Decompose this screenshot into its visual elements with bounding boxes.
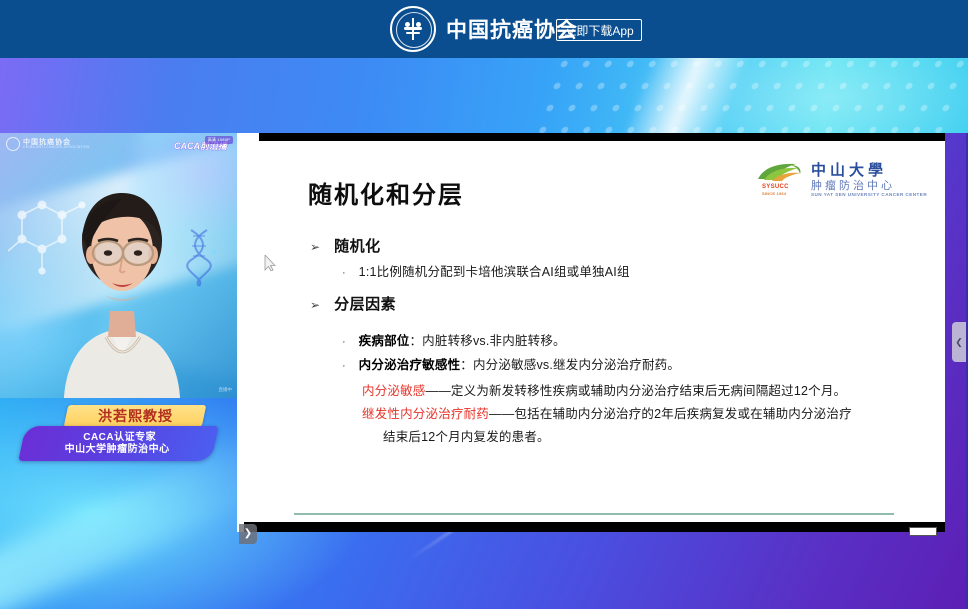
annotation-line: 继发性内分泌治疗耐药——包括在辅助内分泌治疗的2年后疾病复发或在辅助内分泌治疗 xyxy=(362,403,852,422)
video-quality-badge: 高清 1080P xyxy=(205,136,233,144)
arrow-bullet-icon: ➢ xyxy=(310,241,320,253)
speaker-video-panel[interactable]: 中国抗癌协会 CHINA ANTI-CANCER ASSOCIATION CAC… xyxy=(0,133,237,532)
top-navigation-bar: 中国抗癌协会 立即下载App xyxy=(0,0,968,58)
arrow-bullet-icon: ➢ xyxy=(310,299,320,311)
list-item-label: 疾病部位：内脏转移vs.非内脏转移。 xyxy=(359,330,566,349)
annotation-line: 结束后12个月内复发的患者。 xyxy=(383,426,550,445)
slide-viewer[interactable]: 随机化和分层 SYSUCC SINCE 1964 中山大學 肿瘤防治中心 SUN… xyxy=(237,133,945,532)
slide-bottom-notch xyxy=(909,527,937,536)
banner-content: 中国抗癌协会 CHINA ANTI-CANCER ASSOCIATION CAC… xyxy=(0,58,968,133)
cancer-center-name-cn: 肿瘤防治中心 xyxy=(811,180,927,193)
sysucc-since: SINCE 1964 xyxy=(762,191,786,196)
university-name-cn: 中山大學 xyxy=(811,163,927,180)
list-item-emphasis: 疾病部位 xyxy=(359,334,410,348)
caca-seal-icon xyxy=(390,6,436,52)
dna-helix-decoration-icon xyxy=(185,228,219,288)
brand-group: 中国抗癌协会 xyxy=(390,6,578,52)
list-item-label: 随机化 xyxy=(334,235,381,256)
speaker-figure xyxy=(58,171,186,398)
slide-divider xyxy=(294,513,894,515)
list-item: · 1:1比例随机分配到卡培他滨联合AI组或单独AI组 xyxy=(342,261,630,280)
event-banner: 中国抗癌协会 CHINA ANTI-CANCER ASSOCIATION CAC… xyxy=(0,58,968,133)
list-item: ➢ 分层因素 xyxy=(310,293,396,314)
list-item-emphasis: 内分泌治疗敏感性 xyxy=(359,358,461,372)
mouse-pointer-icon xyxy=(264,255,276,271)
dot-bullet-icon: · xyxy=(342,337,346,348)
sysucc-mark: SYSUCC SINCE 1964 xyxy=(756,163,804,197)
list-item-label: 内分泌治疗敏感性：内分泌敏感vs.继发内分泌治疗耐药。 xyxy=(359,354,680,373)
annotation-text: ——定义为新发转移性疾病或辅助内分泌治疗结束后无病间隔超过12个月。 xyxy=(426,384,847,398)
video-association-watermark: 中国抗癌协会 CHINA ANTI-CANCER ASSOCIATION xyxy=(6,137,90,151)
speaker-video-feed[interactable]: 中国抗癌协会 CHINA ANTI-CANCER ASSOCIATION CAC… xyxy=(0,133,237,398)
slide-page: 随机化和分层 SYSUCC SINCE 1964 中山大學 肿瘤防治中心 SUN… xyxy=(244,141,945,522)
speaker-nameplate: 洪若熙教授 CACA认证专家 中山大学肿瘤防治中心 xyxy=(18,405,218,461)
slide-title: 随机化和分层 xyxy=(308,175,464,210)
speaker-affiliation: 中山大学肿瘤防治中心 xyxy=(65,444,170,456)
dot-bullet-icon: · xyxy=(342,361,346,372)
video-corner-tag: 直播中 xyxy=(219,387,233,393)
slide-letterbox-bottom xyxy=(244,522,945,532)
sysucc-name-block: 中山大學 肿瘤防治中心 SUN YAT SEN UNIVERSITY CANCE… xyxy=(811,163,927,197)
slide-panel-expand-button[interactable]: ❯ xyxy=(239,524,257,544)
annotation-line: 内分泌敏感——定义为新发转移性疾病或辅助内分泌治疗结束后无病间隔超过12个月。 xyxy=(362,380,846,399)
sysucc-logo-icon: SYSUCC SINCE 1964 中山大學 肿瘤防治中心 SUN YAT SE… xyxy=(756,163,927,197)
speaker-name: 洪若熙教授 xyxy=(98,406,173,426)
list-item-label: 1:1比例随机分配到卡培他滨联合AI组或单独AI组 xyxy=(359,261,630,280)
list-item: ➢ 随机化 xyxy=(310,235,381,256)
list-item-rest: ：内脏转移vs.非内脏转移。 xyxy=(409,334,565,348)
watermark-seal-icon xyxy=(6,137,20,151)
annotation-keyword: 继发性内分泌治疗耐药 xyxy=(362,407,489,421)
annotation-text: ——包括在辅助内分泌治疗的2年后疾病复发或在辅助内分泌治疗 xyxy=(489,407,852,421)
chevron-right-icon: ❯ xyxy=(244,529,252,539)
annotation-keyword: 内分泌敏感 xyxy=(362,384,426,398)
sysucc-leaf-icon xyxy=(756,163,804,183)
speaker-affiliation-banner: CACA认证专家 中山大学肿瘤防治中心 xyxy=(18,426,218,461)
speaker-name-banner: 洪若熙教授 xyxy=(64,405,207,427)
download-app-button[interactable]: 立即下载App xyxy=(556,19,642,41)
list-item-rest: ：内分泌敏感vs.继发内分泌治疗耐药。 xyxy=(460,358,680,372)
list-item-label: 分层因素 xyxy=(334,293,396,314)
list-item: · 疾病部位：内脏转移vs.非内脏转移。 xyxy=(342,330,566,349)
speaker-credential: CACA认证专家 xyxy=(83,432,156,444)
slide-letterbox-top xyxy=(259,133,945,141)
chevron-left-icon: ❮ xyxy=(955,338,963,347)
university-name-en: SUN YAT SEN UNIVERSITY CANCER CENTER xyxy=(811,192,927,197)
sidebar-collapse-button[interactable]: ❮ xyxy=(952,322,966,362)
annotation-text: 结束后12个月内复发的患者。 xyxy=(383,430,550,444)
list-item: · 内分泌治疗敏感性：内分泌敏感vs.继发内分泌治疗耐药。 xyxy=(342,354,680,373)
dot-bullet-icon: · xyxy=(342,268,346,279)
watermark-name-en: CHINA ANTI-CANCER ASSOCIATION xyxy=(23,146,90,149)
